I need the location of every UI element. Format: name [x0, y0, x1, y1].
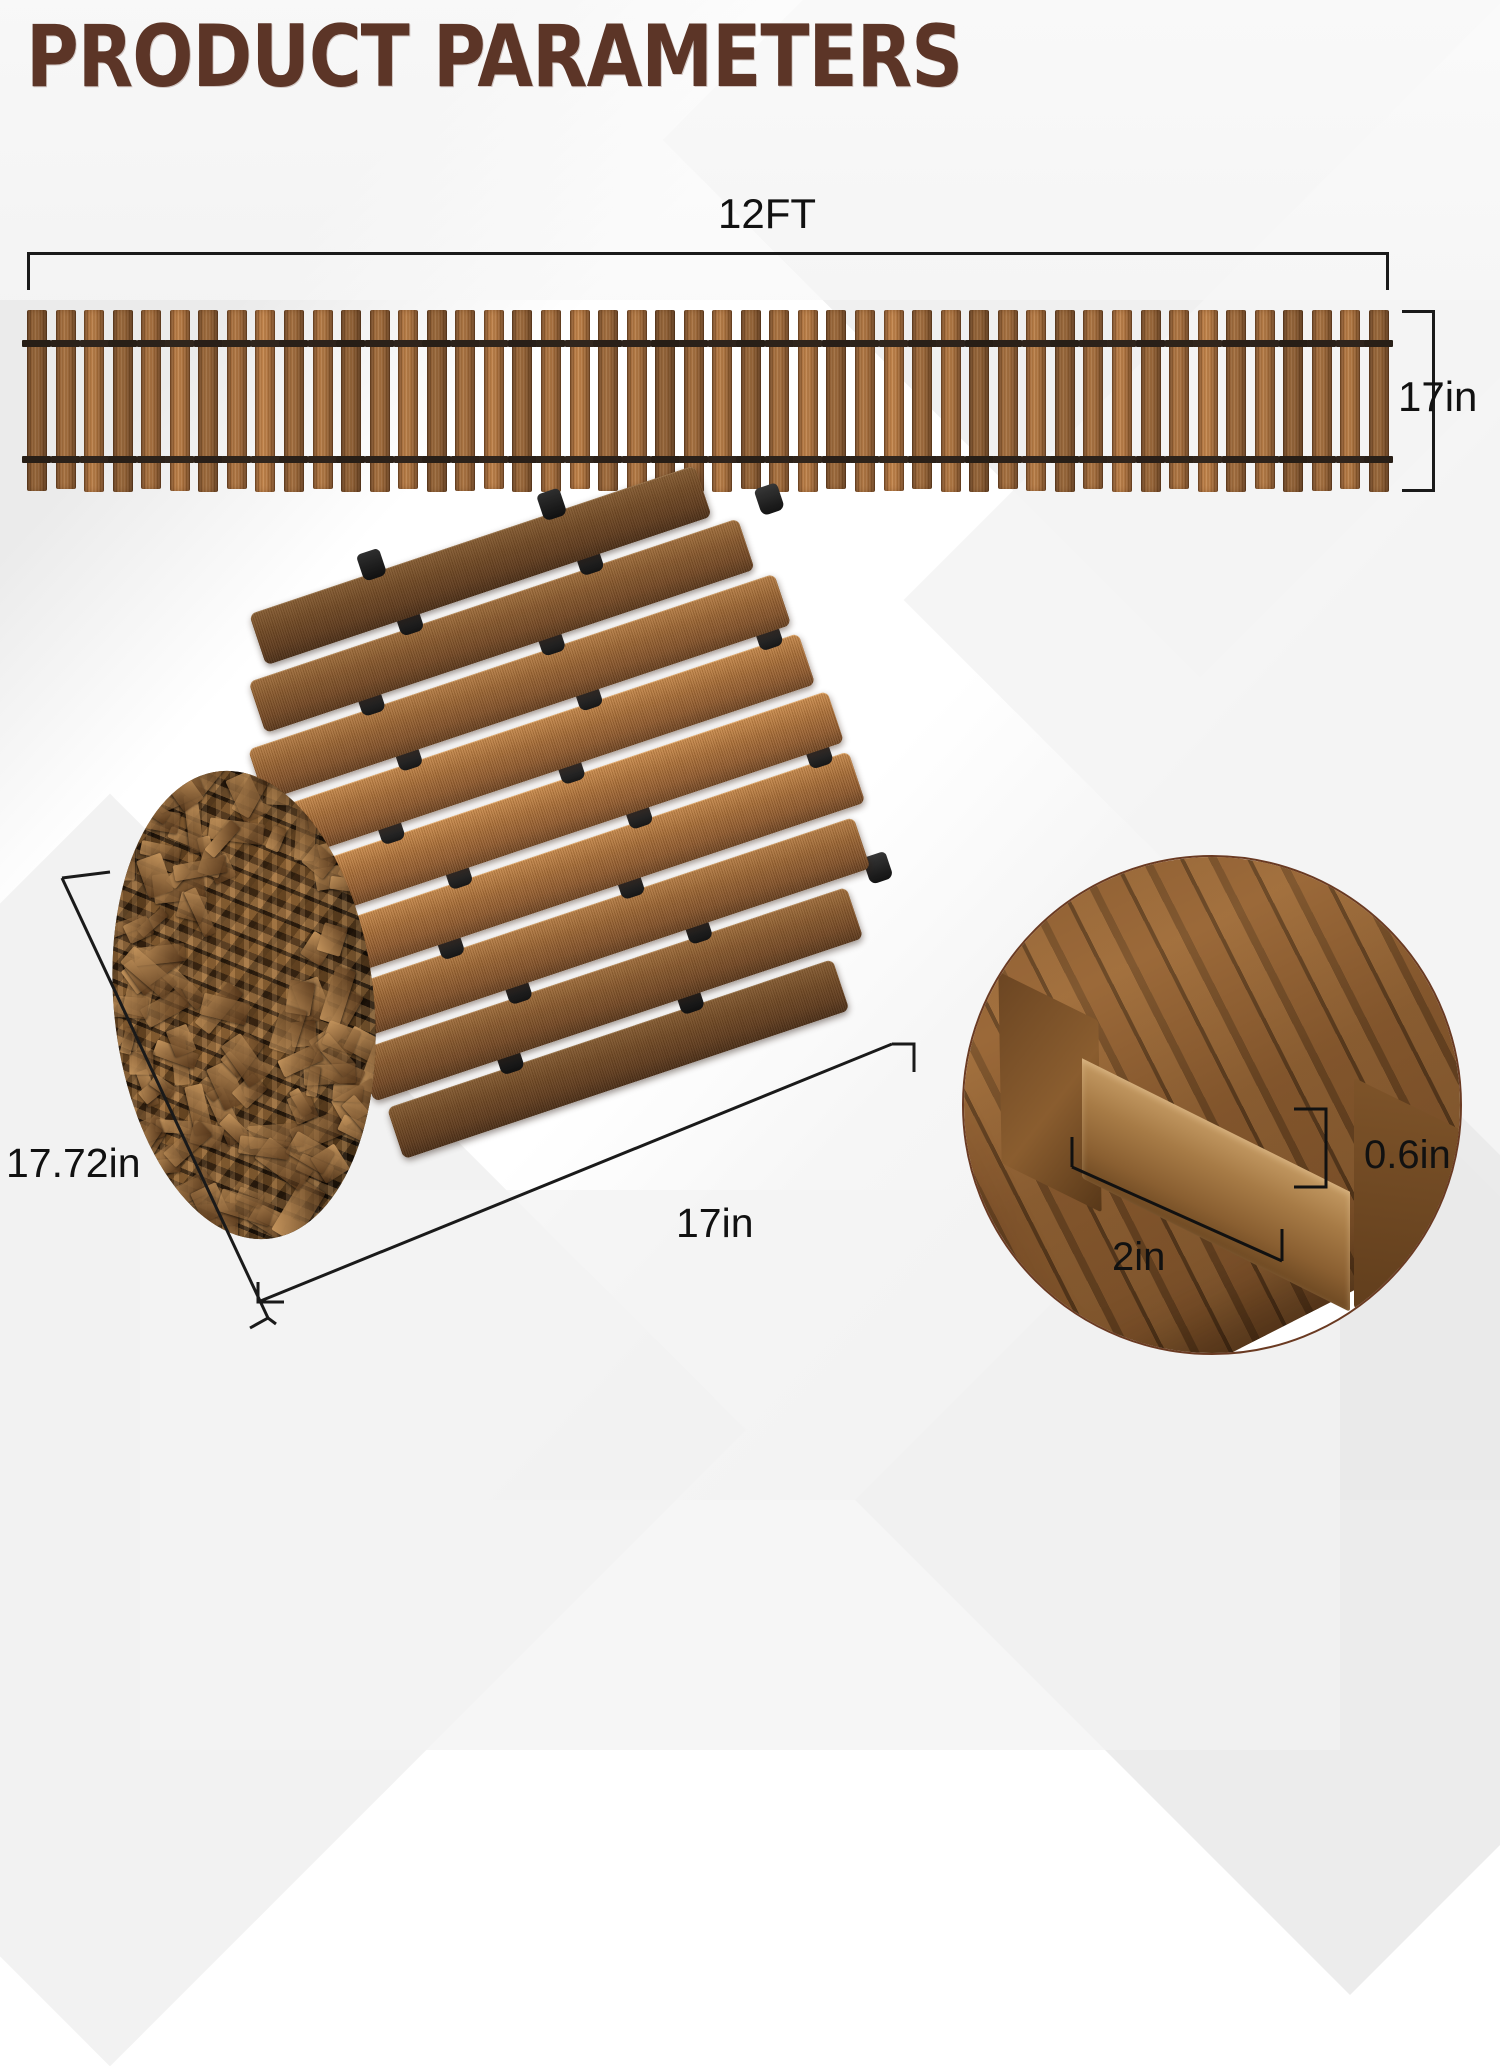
mat-slat: [855, 310, 875, 492]
dimension-tick-12ft-right: [1386, 252, 1389, 290]
slat-detail-circle: 0.6in 2in: [962, 855, 1462, 1355]
mat-slat: [484, 310, 504, 489]
mat-slat: [1198, 310, 1218, 492]
mat-slat: [84, 310, 104, 492]
mat-slat: [1340, 310, 1360, 489]
mat-slat: [1312, 310, 1332, 491]
dimension-tick-12ft-left: [27, 252, 30, 290]
dimension-label-roll-diameter: 17.72in: [6, 1140, 141, 1187]
mat-slat: [113, 310, 133, 492]
mat-slat: [998, 310, 1018, 489]
mat-slat: [27, 310, 47, 491]
mat-slat: [1283, 310, 1303, 492]
mat-slat: [1055, 310, 1075, 492]
dimension-bracket-roll-diameter: [52, 866, 282, 1334]
mat-slat: [170, 310, 190, 491]
page-title: PRODUCT PARAMETERS: [26, 14, 962, 100]
mat-slat: [398, 310, 418, 489]
mat-slat: [512, 310, 532, 492]
mat-slat: [255, 310, 275, 492]
mat-slat: [1226, 310, 1246, 492]
mat-slat: [56, 310, 76, 489]
mat-slat: [826, 310, 846, 489]
mat-slat: [1369, 310, 1389, 492]
mat-slat: [427, 310, 447, 492]
mat-slat: [969, 310, 989, 492]
mat-slat: [141, 310, 161, 489]
mat-slat: [884, 310, 904, 491]
mat-slat: [598, 310, 618, 491]
mat-slat: [1169, 310, 1189, 489]
mat-slat: [1141, 310, 1161, 492]
mat-slat: [941, 310, 961, 492]
mat-slat: [284, 310, 304, 492]
mat-slat: [1255, 310, 1275, 489]
mat-slat: [227, 310, 247, 489]
mat-slat: [655, 310, 675, 489]
mat-slat: [912, 310, 932, 489]
mat-slat: [198, 310, 218, 492]
dimension-tick-17in-top: [1402, 310, 1435, 313]
mat-slat: [627, 310, 647, 492]
dimension-tick-17in-bottom: [1402, 489, 1435, 492]
mat-slat: [570, 310, 590, 489]
dimension-label-mat-width: 17in: [1398, 373, 1477, 421]
mat-slat: [1112, 310, 1132, 492]
dimension-label-slat-width: 2in: [1112, 1235, 1165, 1280]
mat-slat: [541, 310, 561, 492]
mat-slat: [1026, 310, 1046, 491]
mat-slat: [455, 310, 475, 491]
dimension-label-mat-length: 12FT: [718, 190, 816, 238]
mat-slat: [1083, 310, 1103, 489]
dimension-line-12ft-horizontal: [27, 252, 1389, 255]
mat-slat: [313, 310, 333, 489]
dimension-bracket-roll-length: [250, 1010, 920, 1310]
mat-slat: [370, 310, 390, 492]
dimension-label-roll-length: 17in: [676, 1200, 754, 1247]
mat-slat: [341, 310, 361, 492]
dimension-label-slat-thickness: 0.6in: [1364, 1133, 1451, 1178]
detail-dimension-lines: [964, 857, 1462, 1355]
rubber-connector: [754, 482, 786, 516]
